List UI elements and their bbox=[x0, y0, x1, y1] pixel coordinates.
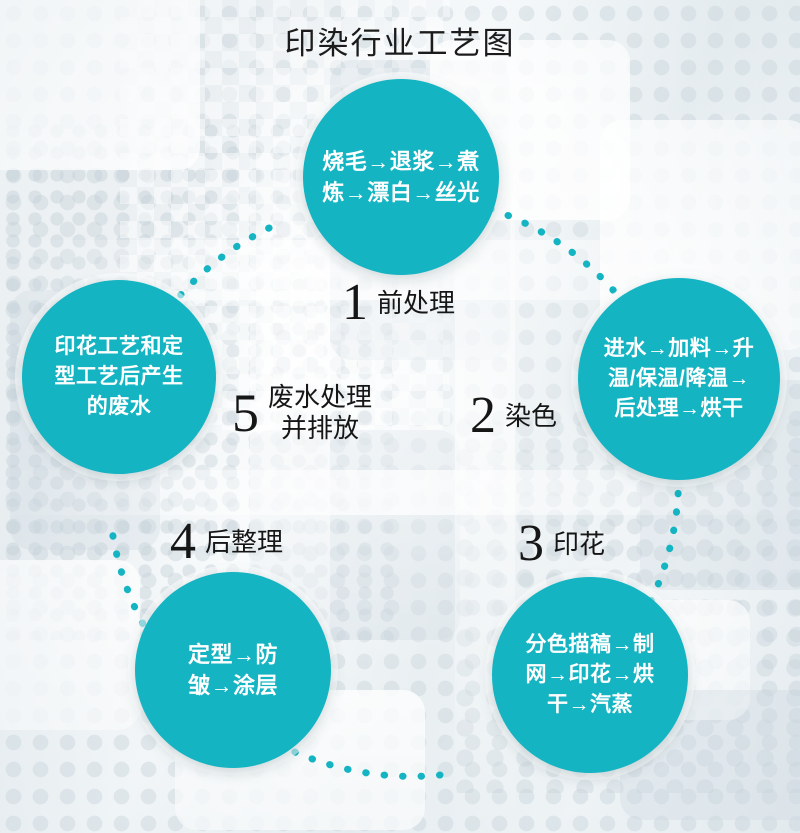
step-title-3: 印花 bbox=[553, 529, 605, 560]
process-node-3[interactable]: 分色描稿→制 网→印花→烘 干→汽蒸 bbox=[492, 577, 688, 773]
process-node-2[interactable]: 进水→加料→升 温/保温/降温→ 后处理→烘干 bbox=[578, 278, 780, 480]
step-number-4: 4 bbox=[170, 516, 196, 568]
step-title-5: 废水处理 并排放 bbox=[268, 382, 372, 443]
step-label-3: 3 印花 bbox=[518, 518, 605, 570]
page-title: 印染行业工艺图 bbox=[0, 18, 800, 63]
process-node-4-text: 定型→防 皱→涂层 bbox=[188, 639, 278, 701]
process-node-5-text: 印花工艺和定 型工艺后产生 的废水 bbox=[55, 332, 184, 421]
step-number-1: 1 bbox=[342, 277, 368, 329]
step-number-2: 2 bbox=[470, 390, 496, 442]
process-diagram-canvas: 印染行业工艺图 烧毛→退浆→煮 炼→漂白→丝光 进水→加料→升 温/保温/降温→… bbox=[0, 0, 800, 833]
process-node-1-text: 烧毛→退浆→煮 炼→漂白→丝光 bbox=[322, 146, 480, 208]
process-node-5[interactable]: 印花工艺和定 型工艺后产生 的废水 bbox=[22, 280, 216, 474]
step-label-4: 4 后整理 bbox=[170, 516, 283, 568]
process-node-1[interactable]: 烧毛→退浆→煮 炼→漂白→丝光 bbox=[303, 79, 499, 275]
step-label-1: 1 前处理 bbox=[342, 277, 455, 329]
step-label-2: 2 染色 bbox=[470, 390, 557, 442]
step-number-5: 5 bbox=[232, 386, 259, 440]
process-node-3-text: 分色描稿→制 网→印花→烘 干→汽蒸 bbox=[526, 630, 655, 719]
process-node-4[interactable]: 定型→防 皱→涂层 bbox=[135, 572, 331, 768]
step-title-2: 染色 bbox=[505, 401, 557, 432]
step-title-1: 前处理 bbox=[377, 288, 455, 319]
process-node-2-text: 进水→加料→升 温/保温/降温→ 后处理→烘干 bbox=[604, 334, 755, 423]
step-title-4: 后整理 bbox=[205, 527, 283, 558]
step-number-3: 3 bbox=[518, 518, 544, 570]
step-label-5: 5 废水处理 并排放 bbox=[232, 382, 372, 443]
